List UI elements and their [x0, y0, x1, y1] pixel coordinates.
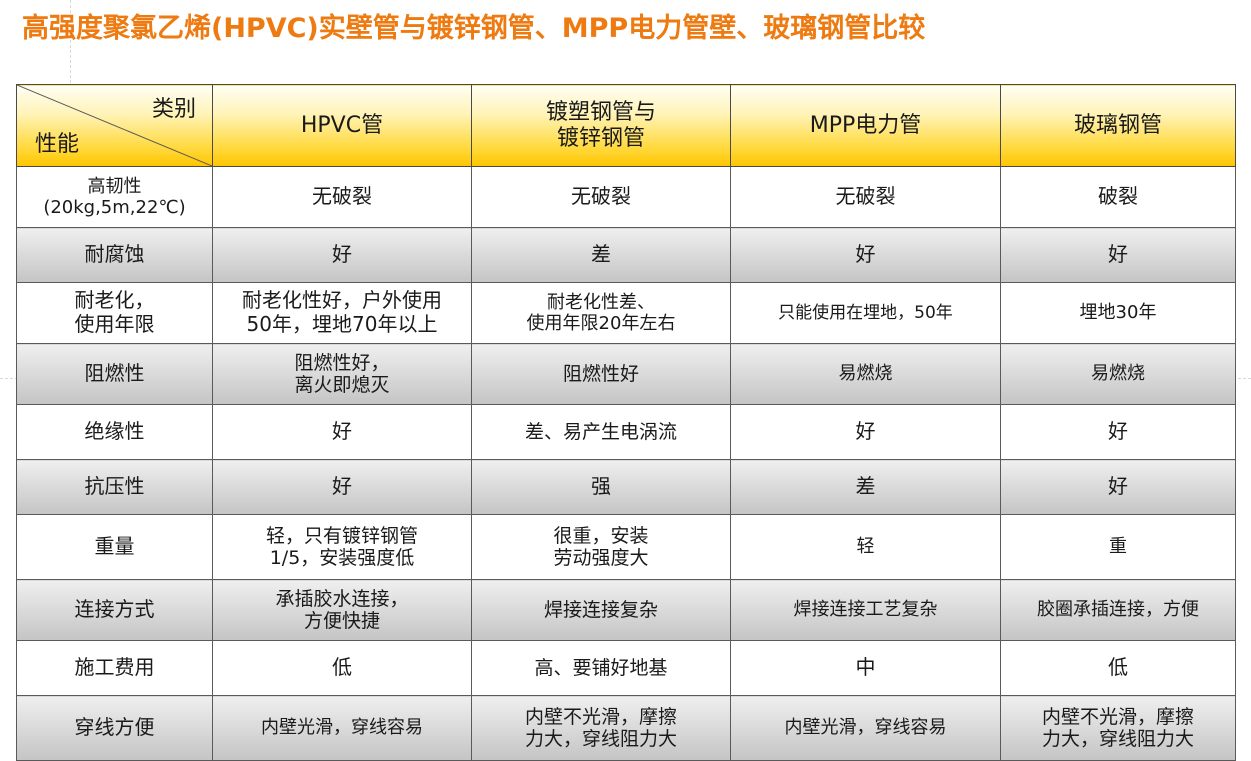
header-category-label: 类别 [152, 91, 196, 123]
data-cell-text: 易燃烧 [1004, 363, 1232, 384]
data-cell-text: 耐老化性差、 使用年限20年左右 [475, 292, 727, 334]
data-cell-text: 很重，安装 劳动强度大 [475, 525, 727, 570]
data-cell-text: 焊接连接复杂 [475, 599, 727, 621]
data-cell-text: 低 [1004, 656, 1232, 680]
data-cell: 焊接连接工艺复杂 [731, 580, 1001, 641]
data-cell: 胶圈承插连接，方便 [1001, 580, 1236, 641]
data-cell: 易燃烧 [731, 344, 1001, 405]
table-header-row: 类别 性能 HPVC管 镀塑钢管与 镀锌钢管 MPP电力管 玻璃钢管 [17, 85, 1236, 167]
data-cell: 内壁不光滑，摩擦 力大，穿线阻力大 [1001, 696, 1236, 761]
data-cell-text: 轻 [734, 536, 997, 557]
data-cell-text: 差 [475, 243, 727, 267]
data-cell-text: 好 [216, 243, 468, 267]
data-cell: 好 [213, 228, 472, 283]
comparison-table-container: 类别 性能 HPVC管 镀塑钢管与 镀锌钢管 MPP电力管 玻璃钢管 高韧性 (… [16, 84, 1235, 761]
data-cell: 承插胶水连接， 方便快捷 [213, 580, 472, 641]
row-label-cell: 高韧性 (20kg,5m,22℃) [17, 167, 213, 228]
table-row: 耐腐蚀 好 差 好 好 [17, 228, 1236, 283]
data-cell-text: 破裂 [1004, 185, 1232, 209]
data-cell: 好 [731, 228, 1001, 283]
data-cell-text: 胶圈承插连接，方便 [1004, 599, 1232, 620]
data-cell: 差 [472, 228, 731, 283]
row-label-text: 施工费用 [20, 656, 209, 680]
data-cell-text: 好 [1004, 420, 1232, 444]
column-header-hpvc-text: HPVC管 [216, 113, 468, 139]
row-label-text: 耐腐蚀 [20, 243, 209, 267]
column-header-mpp: MPP电力管 [731, 85, 1001, 167]
table-row: 重量 轻，只有镀锌钢管 1/5，安装强度低 很重，安装 劳动强度大 轻 重 [17, 515, 1236, 580]
column-header-hpvc: HPVC管 [213, 85, 472, 167]
data-cell-text: 内壁不光滑，摩擦 力大，穿线阻力大 [475, 706, 727, 751]
data-cell: 耐老化性好，户外使用 50年，埋地70年以上 [213, 283, 472, 344]
data-cell-text: 强 [475, 475, 727, 499]
data-cell-text: 易燃烧 [734, 363, 997, 384]
data-cell-text: 差、易产生电涡流 [475, 421, 727, 443]
row-label-text: 抗压性 [20, 475, 209, 499]
data-cell-text: 阻燃性好， 离火即熄灭 [216, 352, 468, 397]
data-cell-text: 内壁不光滑，摩擦 力大，穿线阻力大 [1004, 706, 1232, 751]
data-cell-text: 内壁光滑，穿线容易 [216, 717, 468, 738]
table-row: 绝缘性 好 差、易产生电涡流 好 好 [17, 405, 1236, 460]
table-row: 施工费用 低 高、要铺好地基 中 低 [17, 641, 1236, 696]
data-cell-text: 无破裂 [475, 185, 727, 209]
data-cell-text: 高、要铺好地基 [475, 657, 727, 679]
data-cell: 好 [1001, 228, 1236, 283]
data-cell: 好 [213, 405, 472, 460]
row-label-text: 耐老化， 使用年限 [20, 289, 209, 336]
data-cell: 无破裂 [731, 167, 1001, 228]
data-cell: 阻燃性好 [472, 344, 731, 405]
column-header-mpp-text: MPP电力管 [734, 113, 997, 139]
header-corner-cell: 类别 性能 [17, 85, 213, 167]
data-cell: 埋地30年 [1001, 283, 1236, 344]
data-cell: 破裂 [1001, 167, 1236, 228]
data-cell: 差 [731, 460, 1001, 515]
data-cell-text: 低 [216, 656, 468, 680]
data-cell-text: 无破裂 [216, 185, 468, 209]
data-cell: 强 [472, 460, 731, 515]
column-header-frp-text: 玻璃钢管 [1004, 113, 1232, 139]
data-cell: 好 [731, 405, 1001, 460]
data-cell: 耐老化性差、 使用年限20年左右 [472, 283, 731, 344]
table-row: 阻燃性 阻燃性好， 离火即熄灭 阻燃性好 易燃烧 易燃烧 [17, 344, 1236, 405]
data-cell-text: 重 [1004, 536, 1232, 557]
column-header-galvanized-text: 镀塑钢管与 镀锌钢管 [475, 100, 727, 152]
data-cell: 易燃烧 [1001, 344, 1236, 405]
data-cell-text: 好 [216, 420, 468, 444]
table-row: 穿线方便 内壁光滑，穿线容易 内壁不光滑，摩擦 力大，穿线阻力大 内壁光滑，穿线… [17, 696, 1236, 761]
row-label-cell: 穿线方便 [17, 696, 213, 761]
header-property-label: 性能 [35, 126, 79, 158]
data-cell: 低 [1001, 641, 1236, 696]
data-cell-text: 差 [734, 475, 997, 499]
row-label-cell: 阻燃性 [17, 344, 213, 405]
data-cell: 很重，安装 劳动强度大 [472, 515, 731, 580]
table-row: 抗压性 好 强 差 好 [17, 460, 1236, 515]
data-cell: 好 [1001, 405, 1236, 460]
data-cell-text: 轻，只有镀锌钢管 1/5，安装强度低 [216, 525, 468, 570]
data-cell: 只能使用在埋地，50年 [731, 283, 1001, 344]
data-cell-text: 阻燃性好 [475, 363, 727, 385]
column-header-frp: 玻璃钢管 [1001, 85, 1236, 167]
table-row: 连接方式 承插胶水连接， 方便快捷 焊接连接复杂 焊接连接工艺复杂 胶圈承插连接… [17, 580, 1236, 641]
data-cell-text: 好 [216, 475, 468, 499]
data-cell: 内壁光滑，穿线容易 [213, 696, 472, 761]
data-cell: 无破裂 [213, 167, 472, 228]
data-cell-text: 耐老化性好，户外使用 50年，埋地70年以上 [216, 289, 468, 336]
data-cell-text: 好 [734, 243, 997, 267]
data-cell: 内壁光滑，穿线容易 [731, 696, 1001, 761]
data-cell: 重 [1001, 515, 1236, 580]
row-label-text: 高韧性 (20kg,5m,22℃) [20, 176, 209, 218]
data-cell-text: 内壁光滑，穿线容易 [734, 717, 997, 738]
row-label-text: 连接方式 [20, 598, 209, 622]
row-label-text: 绝缘性 [20, 420, 209, 444]
row-label-text: 穿线方便 [20, 716, 209, 740]
data-cell-text: 好 [734, 420, 997, 444]
data-cell: 轻 [731, 515, 1001, 580]
row-label-cell: 抗压性 [17, 460, 213, 515]
data-cell: 差、易产生电涡流 [472, 405, 731, 460]
data-cell: 高、要铺好地基 [472, 641, 731, 696]
data-cell: 无破裂 [472, 167, 731, 228]
row-label-cell: 耐老化， 使用年限 [17, 283, 213, 344]
data-cell: 中 [731, 641, 1001, 696]
row-label-cell: 连接方式 [17, 580, 213, 641]
row-label-text: 重量 [20, 535, 209, 559]
data-cell-text: 中 [734, 656, 997, 680]
data-cell-text: 承插胶水连接， 方便快捷 [216, 588, 468, 633]
data-cell-text: 埋地30年 [1004, 302, 1232, 323]
data-cell: 轻，只有镀锌钢管 1/5，安装强度低 [213, 515, 472, 580]
column-header-galvanized: 镀塑钢管与 镀锌钢管 [472, 85, 731, 167]
data-cell-text: 好 [1004, 243, 1232, 267]
table-row: 高韧性 (20kg,5m,22℃) 无破裂 无破裂 无破裂 破裂 [17, 167, 1236, 228]
comparison-table: 类别 性能 HPVC管 镀塑钢管与 镀锌钢管 MPP电力管 玻璃钢管 高韧性 (… [16, 84, 1236, 761]
data-cell: 低 [213, 641, 472, 696]
data-cell: 焊接连接复杂 [472, 580, 731, 641]
data-cell-text: 好 [1004, 475, 1232, 499]
row-label-cell: 耐腐蚀 [17, 228, 213, 283]
row-label-cell: 施工费用 [17, 641, 213, 696]
data-cell: 阻燃性好， 离火即熄灭 [213, 344, 472, 405]
row-label-text: 阻燃性 [20, 362, 209, 386]
data-cell: 好 [213, 460, 472, 515]
data-cell-text: 只能使用在埋地，50年 [734, 303, 997, 323]
row-label-cell: 绝缘性 [17, 405, 213, 460]
page-title: 高强度聚氯乙烯(HPVC)实壁管与镀锌钢管、MPP电力管壁、玻璃钢管比较 [22, 9, 1232, 49]
data-cell-text: 无破裂 [734, 185, 997, 209]
data-cell: 内壁不光滑，摩擦 力大，穿线阻力大 [472, 696, 731, 761]
table-row: 耐老化， 使用年限 耐老化性好，户外使用 50年，埋地70年以上 耐老化性差、 … [17, 283, 1236, 344]
row-label-cell: 重量 [17, 515, 213, 580]
data-cell-text: 焊接连接工艺复杂 [734, 599, 997, 620]
data-cell: 好 [1001, 460, 1236, 515]
